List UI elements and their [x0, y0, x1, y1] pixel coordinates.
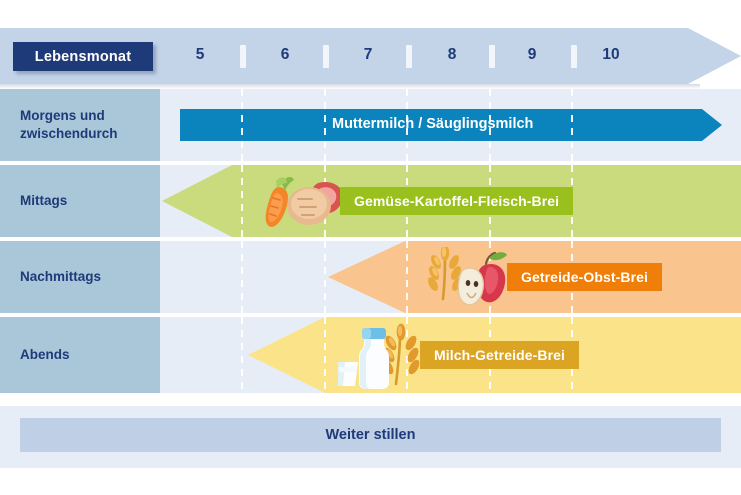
row-separator-4	[0, 393, 741, 397]
feeding-plan-chart: Lebensmonat 5 6 7 8 9 10 Morgens und zwi…	[0, 0, 741, 495]
month-label-5: 5	[187, 46, 213, 64]
row-mittags: Mittags	[0, 165, 741, 237]
month-label-7: 7	[355, 46, 381, 64]
row-separator-1	[0, 161, 741, 165]
month-label-10: 10	[598, 46, 624, 64]
gridline-1	[241, 241, 243, 313]
row-label-morgens: Morgens und zwischendurch	[0, 89, 160, 161]
row-track-mittags: Gemüse-Kartoffel-Fleisch-Brei	[162, 165, 741, 237]
bar-label-gemuese-kartoffel-fleisch: Gemüse-Kartoffel-Fleisch-Brei	[340, 187, 573, 215]
month-axis-badge: Lebensmonat	[13, 42, 153, 71]
gridline-1	[241, 317, 243, 393]
footer-bar-weiter-stillen[interactable]: Weiter stillen	[20, 418, 721, 452]
month-tick-1	[240, 45, 246, 68]
row-abends: Abends	[0, 317, 741, 393]
row-nachmittags: Nachmittags	[0, 241, 741, 313]
row-separator-3	[0, 313, 741, 317]
bar-label-milch-getreide: Milch-Getreide-Brei	[420, 341, 579, 369]
month-tick-3	[406, 45, 412, 68]
row-separator-2	[0, 237, 741, 241]
month-tick-4	[489, 45, 495, 68]
row-label-mittags: Mittags	[0, 165, 160, 237]
row-track-abends: Milch-Getreide-Brei	[162, 317, 741, 393]
month-tick-2	[323, 45, 329, 68]
bar-label-muttermilch: Muttermilch / Säuglingsmilch	[332, 116, 533, 132]
gridline-2	[324, 241, 326, 313]
row-track-nachmittags: Getreide-Obst-Brei	[162, 241, 741, 313]
month-label-8: 8	[439, 46, 465, 64]
row-label-abends: Abends	[0, 317, 160, 393]
month-label-6: 6	[272, 46, 298, 64]
month-label-9: 9	[519, 46, 545, 64]
rows-container: Morgens und zwischendurch Muttermilch / …	[0, 89, 741, 406]
month-tick-5	[571, 45, 577, 68]
row-track-morgens: Muttermilch / Säuglingsmilch	[162, 89, 741, 161]
bar-label-getreide-obst: Getreide-Obst-Brei	[507, 263, 662, 291]
row-morgens: Morgens und zwischendurch Muttermilch / …	[0, 89, 741, 161]
row-label-nachmittags: Nachmittags	[0, 241, 160, 313]
